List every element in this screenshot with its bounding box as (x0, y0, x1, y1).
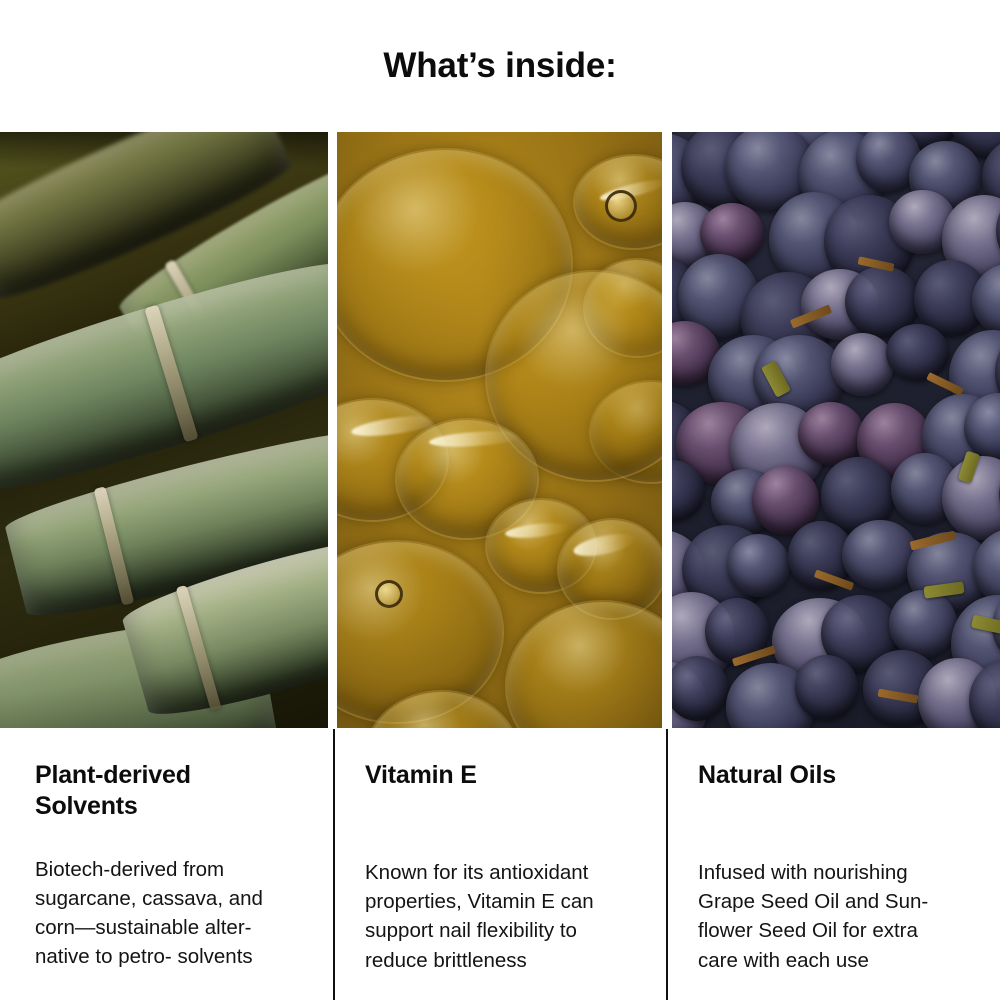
grape-berry (727, 534, 790, 597)
column-body-text: Biotech-derived from sugarcane, cassava,… (35, 855, 298, 971)
page-title: What’s inside: (383, 46, 616, 86)
panel-image-plant-derived-solvents (0, 132, 328, 728)
image-panels-row (0, 132, 1000, 728)
text-columns-row: Plant-derived Solvents Biotech-derived f… (0, 729, 1000, 1000)
column-heading: Plant-derived Solvents (35, 760, 298, 823)
column-body-text: Infused with nourishing Grape Seed Oil a… (698, 858, 970, 974)
column-heading: Vitamin E (365, 760, 637, 791)
grape-berry (831, 333, 895, 396)
header: What’s inside: (0, 0, 1000, 132)
golden-oil-bubbles-photo (337, 132, 662, 728)
sugarcane-stalks-photo (0, 132, 328, 728)
column-natural-oils: Natural Oils Infused with nourishing Gra… (667, 729, 1000, 1000)
panel-gap (662, 132, 672, 728)
grape-berry (889, 590, 957, 658)
column-heading: Natural Oils (698, 760, 970, 791)
cane-node-icon (144, 305, 198, 443)
grape-berry (798, 402, 864, 465)
column-body-text: Known for its antioxidant properties, Vi… (365, 858, 637, 974)
small-oil-bubble (605, 190, 637, 222)
cane-node-icon (176, 585, 222, 711)
panel-gap (328, 132, 337, 728)
column-plant-derived-solvents: Plant-derived Solvents Biotech-derived f… (0, 729, 334, 1000)
small-oil-bubble (375, 580, 403, 608)
cane-node-icon (94, 486, 135, 605)
grape-berry (886, 324, 950, 382)
oil-bubble (507, 602, 662, 728)
column-vitamin-e: Vitamin E Known for its antioxidant prop… (334, 729, 667, 1000)
panel-image-natural-oils (672, 132, 1000, 728)
grape-berry (795, 655, 858, 720)
panel-image-vitamin-e (337, 132, 662, 728)
dark-grapes-photo (672, 132, 1000, 728)
grape-berry (672, 656, 728, 721)
